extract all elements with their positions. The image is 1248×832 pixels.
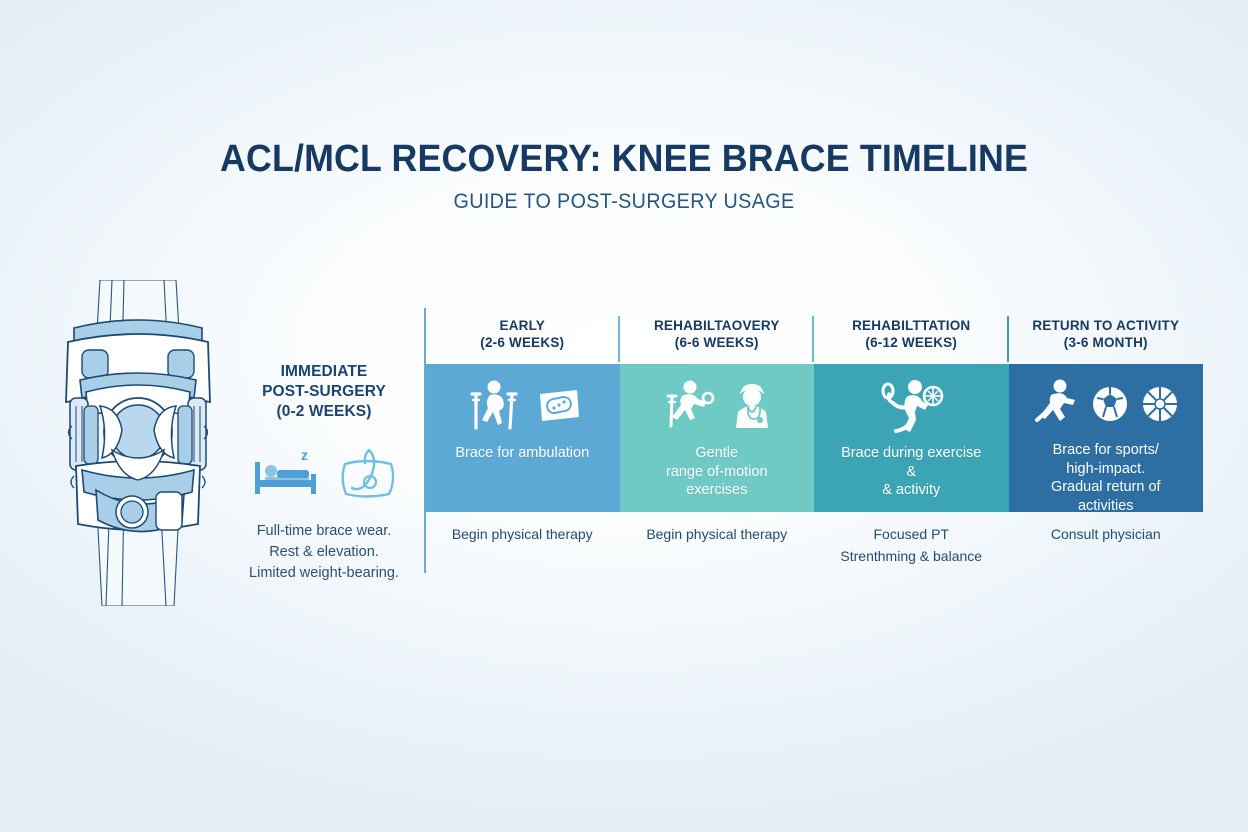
stage-band: Brace for ambulation bbox=[425, 364, 620, 512]
stage-label: REHABILTTATION bbox=[852, 318, 970, 335]
stage-footer: Begin physical therapy bbox=[620, 512, 815, 573]
basketball-icon bbox=[1140, 384, 1180, 429]
stage-footer: Consult physician bbox=[1009, 512, 1204, 573]
stage-footer: Focused PT Strenthming & balance bbox=[814, 512, 1009, 573]
elevated-leg-pillow-icon bbox=[339, 446, 397, 503]
stage-band: Gentle range of-motion exercises bbox=[620, 364, 815, 512]
stage-band: Brace for sports/ high-impact. Gradual r… bbox=[1009, 364, 1204, 512]
band-icons bbox=[875, 378, 947, 438]
page-subtitle: GUIDE TO POST-SURGERY USAGE bbox=[37, 190, 1210, 214]
stage-label: EARLY bbox=[499, 318, 545, 335]
timeline-stage-rehabilttation[interactable]: REHABILTTATION (6-12 WEEKS) bbox=[814, 308, 1009, 573]
stage-zero-notes: Full-time brace wear. Rest & elevation. … bbox=[228, 521, 420, 583]
header: ACL/MCL RECOVERY: KNEE BRACE TIMELINE GU… bbox=[0, 138, 1248, 214]
knee-brace-illustration bbox=[52, 280, 224, 606]
stage-range: (2-6 WEEKS) bbox=[480, 335, 564, 352]
band-text: Gentle range of-motion exercises bbox=[666, 444, 768, 500]
band-icons bbox=[1032, 378, 1180, 435]
band-icons bbox=[463, 378, 581, 438]
band-icons bbox=[660, 378, 774, 438]
stage-range: (6-6 WEEKS) bbox=[675, 335, 759, 352]
running-person-icon bbox=[1032, 378, 1080, 435]
doctor-icon bbox=[730, 380, 774, 437]
band-text: Brace for ambulation bbox=[455, 444, 589, 463]
stage-range: (6-12 WEEKS) bbox=[865, 335, 957, 352]
timeline-stage-early[interactable]: EARLY (2-6 WEEKS) bbox=[425, 308, 620, 573]
stage-header: REHABILTAOVERY (6-6 WEEKS) bbox=[620, 308, 815, 364]
stage-band: Brace during exercise & & activity bbox=[814, 364, 1009, 512]
timeline-stage-return-to-activity[interactable]: RETURN TO ACTIVITY (3-6 MONTH) bbox=[1009, 308, 1204, 573]
page-title: ACL/MCL RECOVERY: KNEE BRACE TIMELINE bbox=[37, 138, 1210, 181]
soccer-ball-icon bbox=[1090, 384, 1130, 429]
person-walking-therapy-icon bbox=[660, 378, 720, 439]
stage-footer: Begin physical therapy bbox=[425, 512, 620, 573]
person-with-crutches-icon bbox=[463, 378, 527, 439]
stage-header: RETURN TO ACTIVITY (3-6 MONTH) bbox=[1009, 308, 1204, 364]
timeline-stage-rehabiltaovery[interactable]: REHABILTAOVERY (6-6 WEEKS) bbox=[620, 308, 815, 573]
person-exercising-ball-icon bbox=[875, 377, 947, 440]
stage-immediate-post-surgery: IMMEDIATE POST-SURGERY (0-2 WEEKS) z bbox=[228, 362, 420, 583]
stage-zero-title: IMMEDIATE POST-SURGERY (0-2 WEEKS) bbox=[228, 362, 420, 421]
svg-text:z: z bbox=[301, 447, 308, 463]
band-text: Brace during exercise & & activity bbox=[841, 444, 981, 500]
infographic-poster: ACL/MCL RECOVERY: KNEE BRACE TIMELINE GU… bbox=[0, 0, 1248, 832]
stage-label: REHABILTAOVERY bbox=[654, 318, 780, 335]
bandage-icon bbox=[537, 386, 581, 431]
recovery-timeline: EARLY (2-6 WEEKS) bbox=[425, 308, 1203, 573]
stage-range: (3-6 MONTH) bbox=[1064, 335, 1148, 352]
band-text: Brace for sports/ high-impact. Gradual r… bbox=[1051, 441, 1161, 512]
stage-label: RETURN TO ACTIVITY bbox=[1032, 318, 1179, 335]
stage-header: REHABILTTATION (6-12 WEEKS) bbox=[814, 308, 1009, 364]
stage-header: EARLY (2-6 WEEKS) bbox=[425, 308, 620, 364]
bed-rest-icon: z bbox=[251, 446, 323, 503]
stage-zero-icons: z bbox=[228, 441, 420, 503]
